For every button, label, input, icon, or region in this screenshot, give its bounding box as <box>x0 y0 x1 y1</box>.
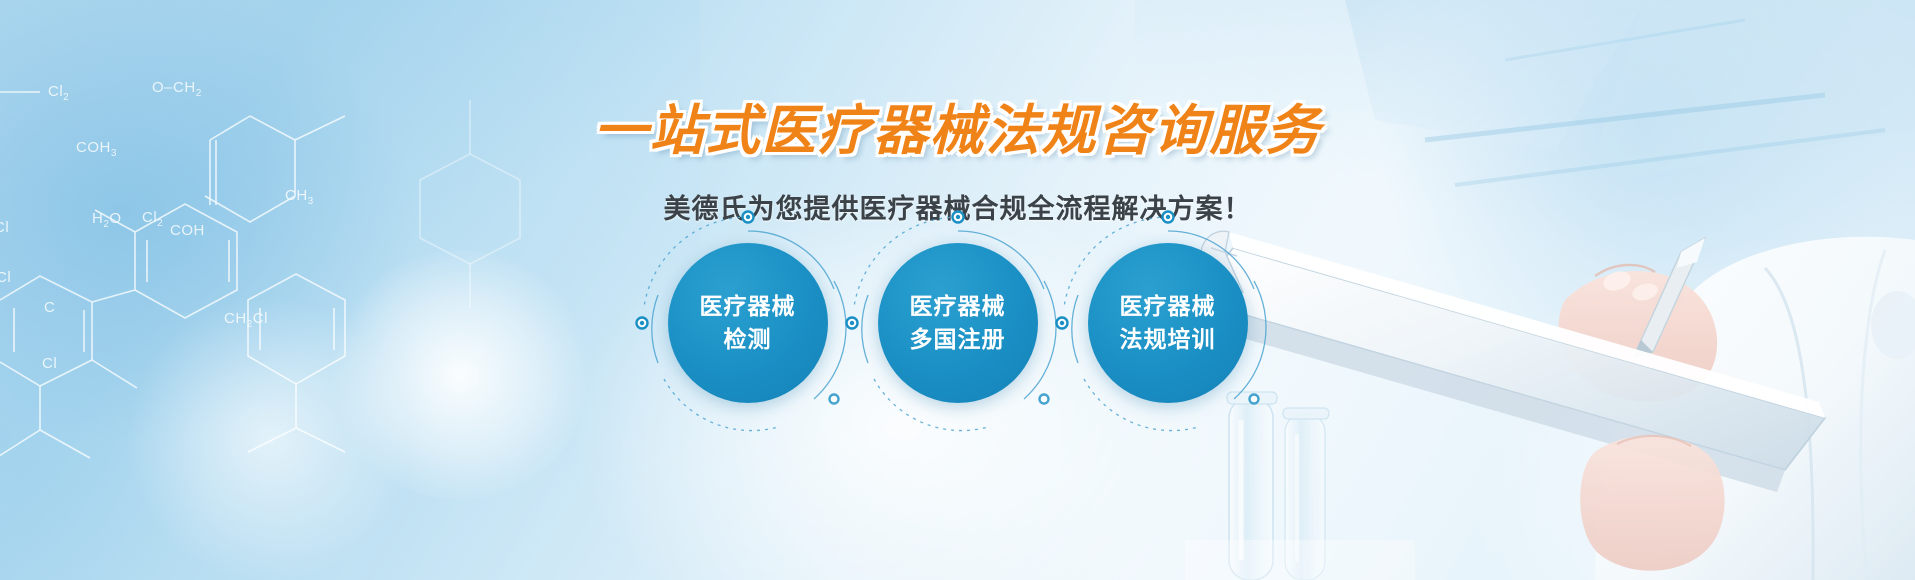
page-title: 一站式医疗器械法规咨询服务 <box>0 86 1915 165</box>
service-circle-list: 医疗器械 检测 <box>0 225 1915 421</box>
promo-banner: COH Cl2 COH3 O–CH2 H2O Cl2 CH2Cl C Cl Cl… <box>0 0 1915 580</box>
banner-content: 一站式医疗器械法规咨询服务 美德氏为您提供医疗器械合规全流程解决方案！ <box>0 0 1915 580</box>
circle-node-bottom-right <box>829 395 838 404</box>
service-circle-multi-country-registration[interactable]: 医疗器械 多国注册 <box>878 243 1038 403</box>
circle-node-bottom-right <box>1039 395 1048 404</box>
service-circle-2-line1: 医疗器械 <box>910 291 1006 322</box>
service-circle-2-wrapper: 医疗器械 多国注册 <box>860 225 1056 421</box>
service-circle-3-line1: 医疗器械 <box>1120 291 1216 322</box>
service-circle-1-line2: 检测 <box>724 324 772 355</box>
circle-node-left <box>846 318 857 329</box>
service-circle-3-line2: 法规培训 <box>1120 324 1216 355</box>
service-circle-3-wrapper: 医疗器械 法规培训 <box>1070 225 1266 421</box>
circle-node-bottom-right <box>1249 395 1258 404</box>
service-circle-1-wrapper: 医疗器械 检测 <box>650 225 846 421</box>
service-circle-1-line1: 医疗器械 <box>700 291 796 322</box>
page-subtitle: 美德氏为您提供医疗器械合规全流程解决方案！ <box>0 187 1915 226</box>
service-circle-regulatory-training[interactable]: 医疗器械 法规培训 <box>1088 243 1248 403</box>
service-circle-2-line2: 多国注册 <box>910 324 1006 355</box>
circle-node-left <box>1056 318 1067 329</box>
circle-node-left <box>636 318 647 329</box>
service-circle-medical-device-testing[interactable]: 医疗器械 检测 <box>668 243 828 403</box>
